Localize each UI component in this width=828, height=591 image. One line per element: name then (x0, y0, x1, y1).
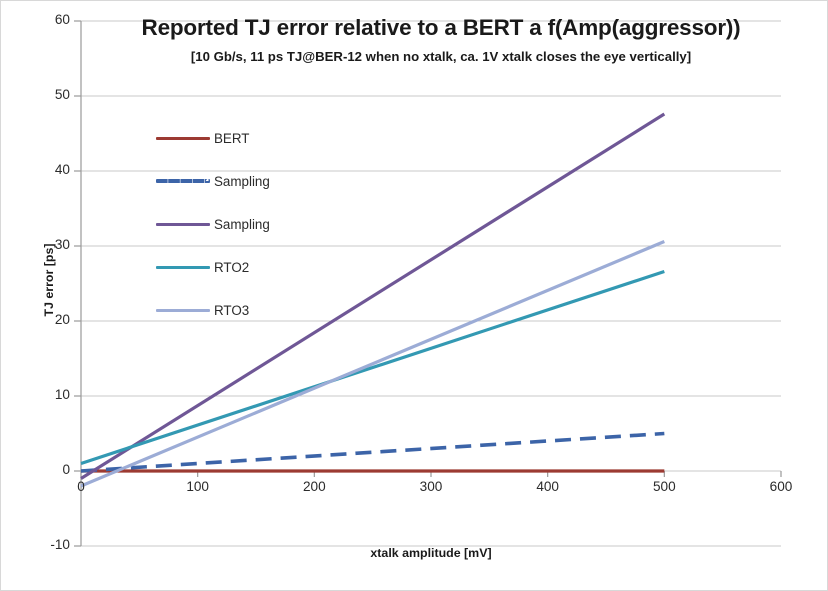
legend-item[interactable]: Sampling (156, 203, 366, 246)
legend-swatch-rto2-3 (156, 261, 210, 275)
x-tick-label: 100 (168, 479, 228, 494)
y-tick-label: 20 (26, 312, 70, 327)
y-tick-label: 40 (26, 162, 70, 177)
legend-swatch-bert-0 (156, 132, 210, 146)
y-tick-label: 30 (26, 237, 70, 252)
x-tick-label: 0 (51, 479, 111, 494)
legend-item[interactable]: BERT (156, 117, 366, 160)
legend-label: BERT (210, 131, 249, 146)
legend-swatch-sampling-1 (156, 175, 210, 189)
y-tick-label: 60 (26, 12, 70, 27)
y-tick-label: 50 (26, 87, 70, 102)
x-tick-label: 600 (751, 479, 811, 494)
series-line-sampling-1 (81, 434, 664, 472)
y-tick-label: 0 (26, 462, 70, 477)
legend-item[interactable]: Sampling (156, 160, 366, 203)
legend-label: Sampling (210, 217, 270, 232)
x-tick-label: 200 (284, 479, 344, 494)
chart-container: Reported TJ error relative to a BERT a f… (0, 0, 828, 591)
y-tick-label: -10 (26, 537, 70, 552)
legend-label: RTO2 (210, 260, 249, 275)
x-axis-label: xtalk amplitude [mV] (81, 546, 781, 560)
x-tick-label: 300 (401, 479, 461, 494)
chart-plot-area (1, 1, 828, 591)
legend-swatch-rto3-4 (156, 304, 210, 318)
legend-item[interactable]: RTO3 (156, 289, 366, 332)
legend-swatch-sampling-2 (156, 218, 210, 232)
x-tick-label: 500 (634, 479, 694, 494)
x-tick-label: 400 (518, 479, 578, 494)
legend-item[interactable]: RTO2 (156, 246, 366, 289)
y-tick-label: 10 (26, 387, 70, 402)
chart-legend: BERTSamplingSamplingRTO2RTO3 (156, 117, 366, 332)
legend-label: RTO3 (210, 303, 249, 318)
legend-label: Sampling (210, 174, 270, 189)
